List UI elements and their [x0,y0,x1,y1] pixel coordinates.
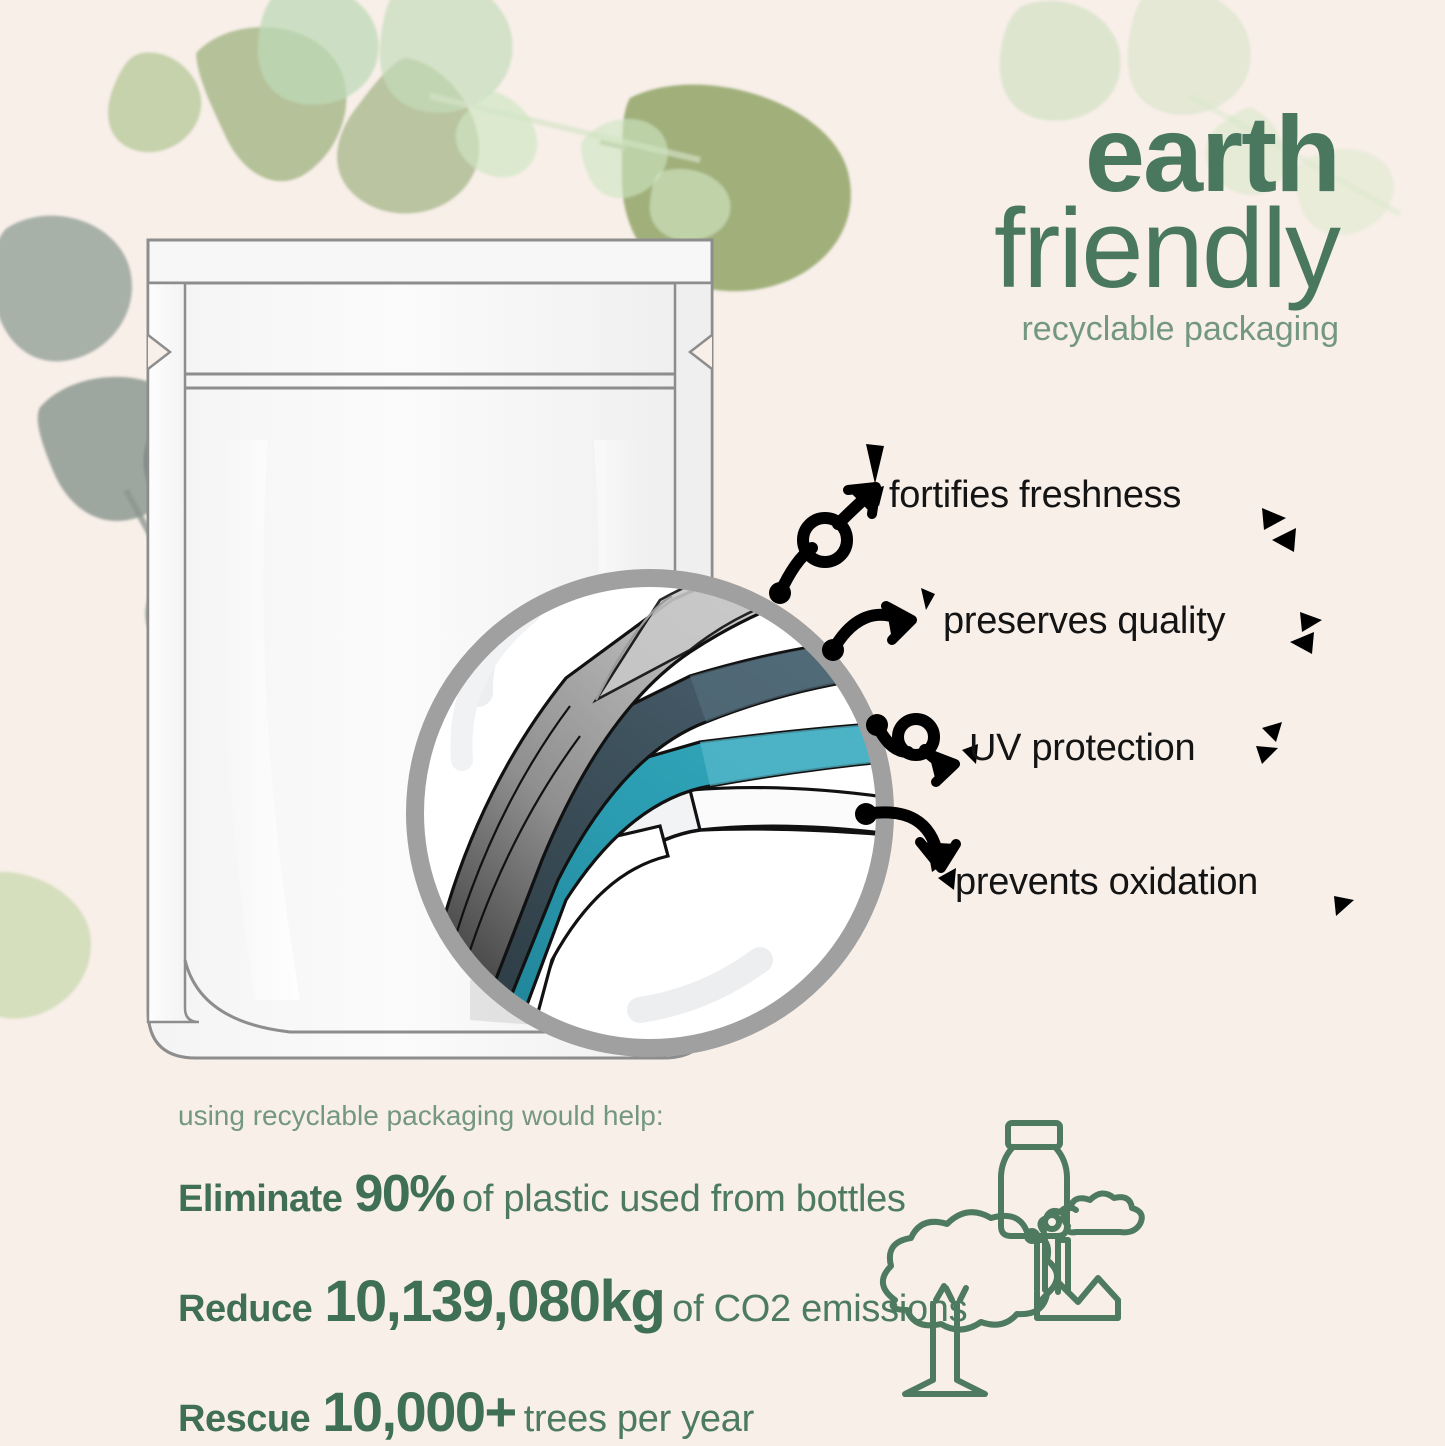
uv-block-layer [452,722,905,1072]
stat-row: Reduce 10,139,080kg of CO2 emissions [178,1268,1188,1335]
lens-contents [420,546,905,1080]
stat-value: 10,000+ [322,1379,515,1444]
arrow-uv-protection [866,714,955,782]
feature-label-fortifies-freshness: fortifies freshness [889,474,1181,517]
stat-value: 10,139,080kg [324,1268,664,1335]
stat-detail: trees per year [524,1398,754,1441]
barrier-layer [436,640,872,1058]
headline-line-2: friendly [994,197,1339,300]
arrow-prevents-oxidation [855,803,956,868]
headline-subtitle: recyclable packaging [994,314,1339,345]
stat-detail: of CO2 emissions [672,1288,967,1331]
infographic-canvas: earth friendly recyclable packaging fort… [0,0,1445,1446]
stat-label: Reduce [178,1288,312,1331]
magnifier-ring [415,578,885,1048]
arrow-fortifies-freshness [769,487,876,604]
arrow-preserves-quality [822,606,912,661]
page-title-block: earth friendly recyclable packaging [994,104,1339,346]
feature-label-uv-protection: UV protection [969,727,1195,770]
stat-label: Rescue [178,1398,310,1441]
stat-detail: of plastic used from bottles [462,1178,906,1221]
stat-value: 90% [354,1164,454,1224]
feature-label-prevents-oxidation: prevents oxidation [955,861,1258,904]
stat-label: Eliminate [178,1178,342,1221]
outer-film-layer [420,548,836,1046]
feature-label-preserves-quality: preserves quality [943,600,1225,643]
stats-intro: using recyclable packaging would help: [178,1102,1188,1130]
stats-block: using recyclable packaging would help: E… [178,1102,1188,1446]
stat-row: Eliminate 90% of plastic used from bottl… [178,1164,1188,1224]
lens-background [415,578,885,1048]
pouch-body [148,240,712,1058]
inner-seal-layer [470,790,905,1048]
stat-row: Rescue 10,000+ trees per year [178,1379,1188,1444]
